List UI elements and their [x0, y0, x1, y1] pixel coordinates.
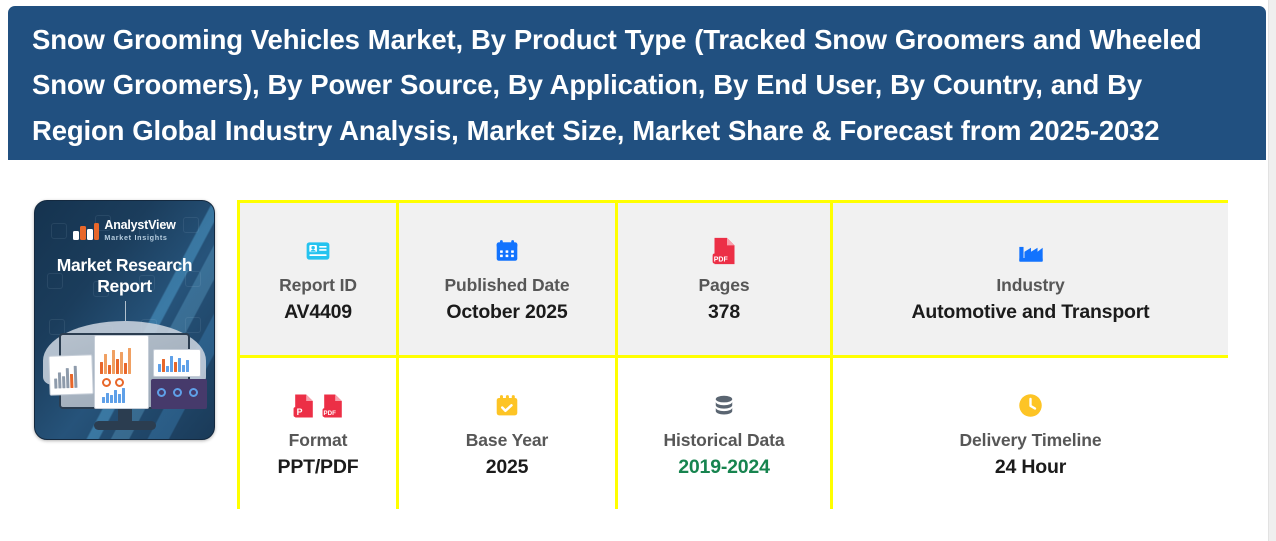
meta-cell-format[interactable]: P PDF Format PPT/PDF	[240, 358, 396, 509]
calendar-icon	[494, 234, 520, 268]
format-icons: P PDF	[293, 389, 344, 423]
svg-text:PDF: PDF	[323, 410, 336, 417]
svg-text:P: P	[296, 407, 302, 417]
calendar-check-icon	[494, 389, 520, 423]
id-card-icon	[305, 234, 331, 268]
meta-value: AV4409	[284, 301, 352, 324]
meta-cell-industry[interactable]: Industry Automotive and Transport	[833, 203, 1228, 355]
page-title: Snow Grooming Vehicles Market, By Produc…	[32, 17, 1242, 154]
meta-label: Published Date	[444, 275, 569, 296]
meta-cell-historical-data[interactable]: Historical Data 2019-2024	[618, 358, 830, 509]
cover-heading-line-2: Report	[45, 276, 204, 297]
bar-chart-mini	[54, 362, 77, 389]
donut-chart-row	[102, 378, 124, 387]
logo-tagline: Market Insights	[104, 234, 175, 241]
cover-heading-line-1: Market Research	[45, 255, 204, 276]
meta-label: Format	[289, 430, 348, 451]
meta-cell-report-id[interactable]: Report ID AV4409	[240, 203, 396, 355]
report-title-banner: Snow Grooming Vehicles Market, By Produc…	[8, 6, 1266, 160]
dashboard-panel	[151, 379, 207, 409]
page-right-edge	[1268, 0, 1276, 541]
pdf-file-icon: PDF	[322, 392, 344, 420]
meta-label: Report ID	[279, 275, 357, 296]
chart-paper-center	[94, 335, 149, 409]
meta-label: Delivery Timeline	[960, 430, 1102, 451]
meta-value: PPT/PDF	[278, 456, 359, 479]
ppt-file-icon: P	[293, 392, 315, 420]
cover-heading: Market Research Report	[45, 255, 204, 296]
database-icon	[711, 389, 737, 423]
factory-icon	[1017, 234, 1045, 268]
meta-cell-published-date[interactable]: Published Date October 2025	[399, 203, 615, 355]
chart-paper-right	[153, 349, 201, 377]
meta-value: 24 Hour	[995, 456, 1066, 479]
meta-cell-delivery-timeline[interactable]: Delivery Timeline 24 Hour	[833, 358, 1228, 509]
meta-label: Base Year	[466, 430, 548, 451]
meta-label: Industry	[996, 275, 1064, 296]
monitor-foot	[94, 421, 156, 430]
report-summary-section: AnalystView Market Insights Market Resea…	[0, 160, 1268, 541]
svg-text:PDF: PDF	[713, 256, 728, 263]
meta-cell-base-year[interactable]: Base Year 2025	[399, 358, 615, 509]
meta-cell-pages[interactable]: PDF Pages 378	[618, 203, 830, 355]
meta-value: 378	[708, 301, 740, 324]
meta-value: 2025	[486, 456, 529, 479]
meta-value: 2019-2024	[678, 456, 769, 479]
cover-monitor-illustration	[49, 315, 200, 435]
donut-chart-panel	[157, 388, 198, 397]
monitor-neck	[118, 407, 132, 421]
logo-mark-icon	[73, 220, 99, 240]
meta-value: Automotive and Transport	[912, 301, 1150, 324]
bar-chart-main	[100, 348, 131, 374]
meta-value: October 2025	[446, 301, 567, 324]
chart-paper-left	[48, 354, 93, 396]
pdf-file-icon: PDF	[712, 234, 737, 268]
meta-label: Historical Data	[663, 430, 784, 451]
clock-icon	[1017, 389, 1044, 423]
report-cover-thumbnail[interactable]: AnalystView Market Insights Market Resea…	[34, 200, 215, 440]
logo-brand-name: AnalystView	[104, 219, 175, 232]
report-meta-grid: Report ID AV4409	[237, 200, 1228, 509]
meta-label: Pages	[698, 275, 749, 296]
analystview-logo: AnalystView Market Insights	[35, 219, 214, 241]
bar-chart-lower	[102, 387, 125, 403]
bar-chart-right	[158, 354, 189, 372]
